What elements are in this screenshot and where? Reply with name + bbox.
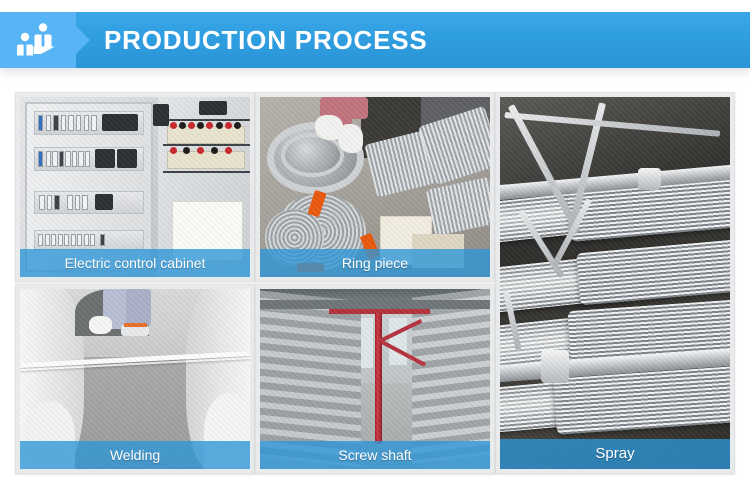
panel-caption-screw-shaft: Screw shaft	[260, 441, 490, 469]
panel-inner: Ring piece	[260, 97, 490, 277]
page-header: PRODUCTION PROCESS	[0, 12, 750, 68]
gallery-panel-spray[interactable]: Spray	[495, 92, 735, 474]
panel-inner: Electric control cabinet	[20, 97, 250, 277]
photo-spray	[500, 97, 730, 469]
header-arrow-chevron	[76, 26, 90, 54]
panel-inner: Screw shaft	[260, 289, 490, 469]
gallery-panel-welding[interactable]: Welding	[15, 284, 255, 474]
gallery-panel-electric-control-cabinet[interactable]: Electric control cabinet	[15, 92, 255, 282]
page-title: PRODUCTION PROCESS	[104, 12, 428, 68]
panel-inner: Welding	[20, 289, 250, 469]
panel-caption-ring-piece: Ring piece	[260, 249, 490, 277]
panel-caption-electric-control-cabinet: Electric control cabinet	[20, 249, 250, 277]
panel-caption-spray: Spray	[500, 439, 730, 469]
panel-caption-welding: Welding	[20, 441, 250, 469]
gallery-panel-ring-piece[interactable]: Ring piece	[255, 92, 495, 282]
gallery-panel-screw-shaft[interactable]: Screw shaft	[255, 284, 495, 474]
production-process-gallery: Electric control cabinet	[15, 92, 735, 474]
team-presentation-icon	[14, 21, 62, 59]
panel-inner: Spray	[500, 97, 730, 469]
